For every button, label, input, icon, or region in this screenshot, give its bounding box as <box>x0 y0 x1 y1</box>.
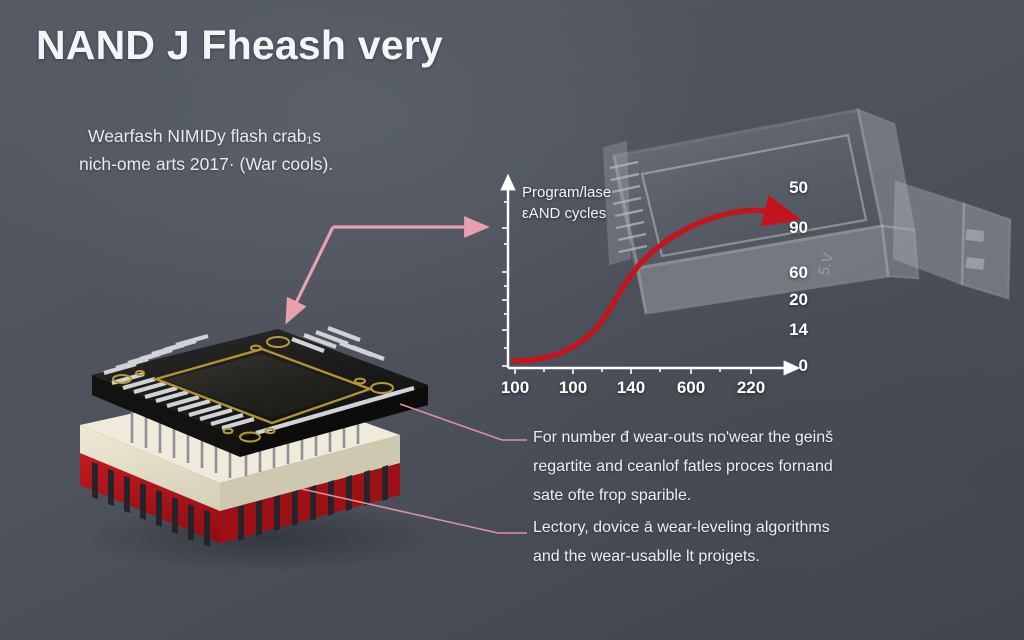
chart-wear-curve <box>514 211 770 362</box>
p1-line-3: sate ofte frop sparible. <box>533 481 905 510</box>
chip-svg <box>60 285 460 570</box>
callout-paragraph-1: For number đ wear-outs noʹwear the geinš… <box>533 423 905 510</box>
subtitle-line-1: Wearfash NIMIDy flash crab₁s <box>88 122 333 150</box>
chart-svg <box>468 182 808 397</box>
p1-line-1: For number đ wear-outs noʹwear the geinš <box>533 423 905 452</box>
wear-curve-chart: Program/lase εAND cycles 50 90 60 20 14 … <box>468 182 808 397</box>
poster-canvas: NAND J Fheash very Wearfash NIMIDy flash… <box>0 0 1024 640</box>
page-title: NAND J Fheash very <box>36 22 443 69</box>
nand-flash-package <box>60 285 460 570</box>
p2-line-2: and the wear-usablle lt proigets. <box>533 542 905 571</box>
subtitle-line-2: nich-ome arts 2017· (War cools). <box>79 150 333 178</box>
p2-line-1: Lectory, dovice ā wear-leveling algorith… <box>533 513 905 542</box>
page-subtitle: Wearfash NIMIDy flash crab₁s nich-ome ar… <box>88 122 333 178</box>
p1-line-2: regartite and ceanlof fatles proces forn… <box>533 452 905 481</box>
callout-paragraph-2: Lectory, dovice ā wear-leveling algorith… <box>533 513 905 571</box>
